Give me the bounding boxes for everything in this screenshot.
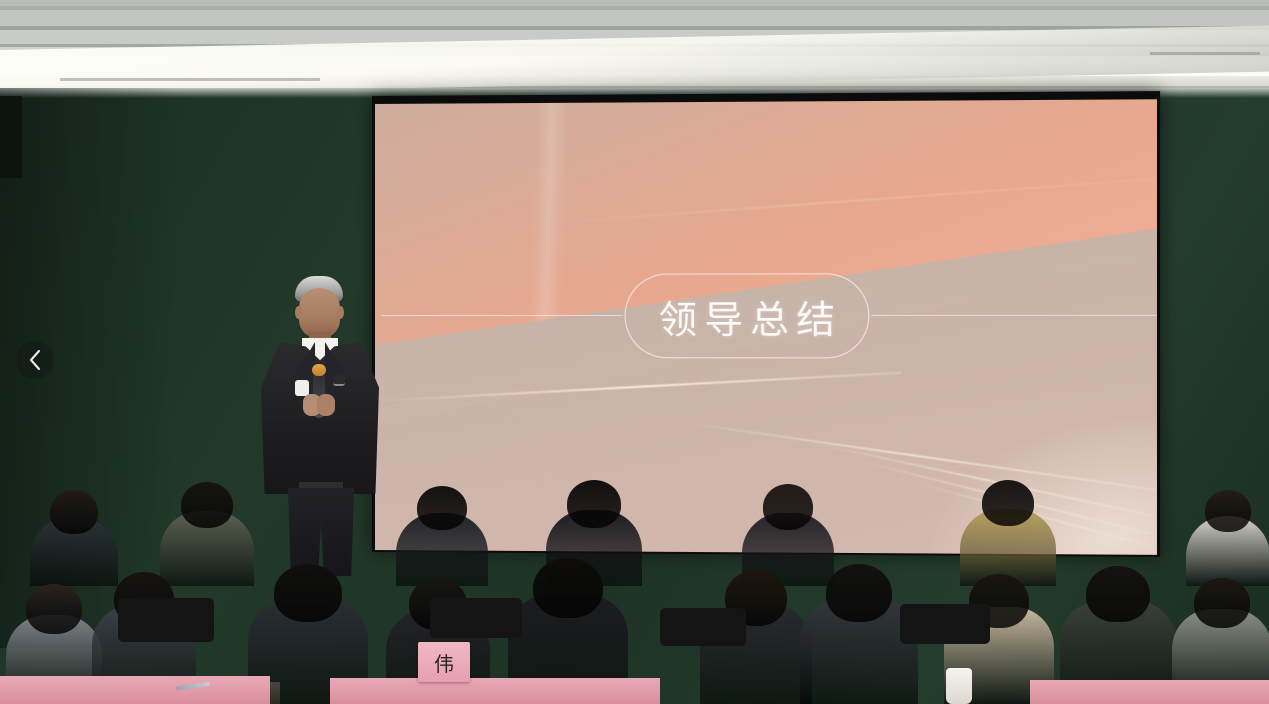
audience-person-head — [1086, 566, 1150, 622]
ceiling-vent-line — [60, 78, 320, 81]
slide-rule-right — [871, 315, 1157, 316]
desk-front-center — [330, 678, 660, 704]
screenshot-stage: 领导总结 伟 — [0, 0, 1269, 704]
audience-person-head — [1194, 578, 1250, 628]
presenter-hand-right — [317, 394, 335, 416]
audience-person-head — [826, 564, 892, 622]
audience-person — [1186, 490, 1269, 586]
audience-person — [960, 480, 1056, 586]
ceiling-vent-line — [1150, 52, 1260, 55]
audience-person-head — [181, 482, 233, 528]
chair-back — [430, 598, 522, 638]
audience-person-head — [763, 484, 813, 530]
wall-dark-panel — [0, 96, 22, 178]
presenter-watch — [333, 374, 345, 386]
slide-title-pill: 领导总结 — [625, 273, 870, 358]
slide-title: 领导总结 — [651, 288, 842, 344]
chevron-left-icon — [28, 349, 43, 371]
desk-front-left — [0, 676, 270, 704]
audience-person — [396, 486, 488, 586]
name-placard-text: 伟 — [434, 648, 454, 677]
audience-person-head — [567, 480, 621, 528]
presenter-head — [299, 288, 340, 338]
slide-rule-left — [381, 315, 623, 316]
microphone-head — [312, 364, 326, 376]
audience-person-head — [417, 486, 467, 530]
audience-person-head — [26, 584, 82, 634]
desk-front-right — [1030, 680, 1269, 704]
audience-person-head — [533, 558, 603, 618]
name-placard: 伟 — [418, 642, 470, 682]
chair-back — [900, 604, 990, 644]
presenter-cuff — [295, 380, 309, 396]
slide-light-streak — [525, 178, 1157, 226]
presenter-ear-right — [337, 306, 344, 319]
prev-slide-button[interactable] — [16, 341, 54, 379]
audience: 伟 — [0, 444, 1269, 704]
audience-person-head — [1205, 490, 1251, 532]
audience-person-head — [50, 490, 98, 534]
audience-person-head — [274, 564, 342, 622]
water-bottle — [946, 668, 972, 704]
chair-back — [660, 608, 746, 646]
audience-person-head — [982, 480, 1034, 526]
chair-back — [118, 598, 214, 642]
presenter-ear-left — [295, 306, 302, 319]
audience-person — [160, 482, 254, 586]
